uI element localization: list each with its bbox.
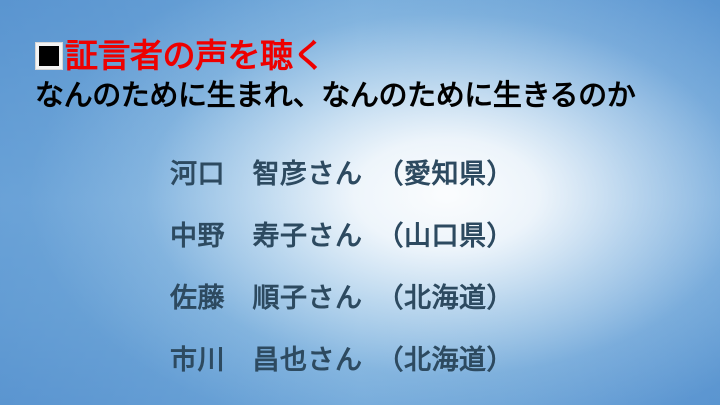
slide-title-text: 証言者の声を聴く [65,39,325,72]
testimony-name-list: 河口 智彦さん （愛知県） 中野 寿子さん （山口県） 佐藤 順子さん （北海道… [170,143,600,391]
filled-square-bullet-icon [36,43,62,69]
list-item: 市川 昌也さん （北海道） [170,329,600,391]
list-item: 河口 智彦さん （愛知県） [170,143,600,205]
slide-title: 証言者の声を聴く [36,33,325,77]
slide-subtitle: なんのために生まれ、なんのために生きるのか [35,79,635,112]
list-item: 佐藤 順子さん （北海道） [170,267,600,329]
slide-canvas: 証言者の声を聴く なんのために生まれ、なんのために生きるのか 河口 智彦さん （… [0,0,720,405]
list-item: 中野 寿子さん （山口県） [170,205,600,267]
